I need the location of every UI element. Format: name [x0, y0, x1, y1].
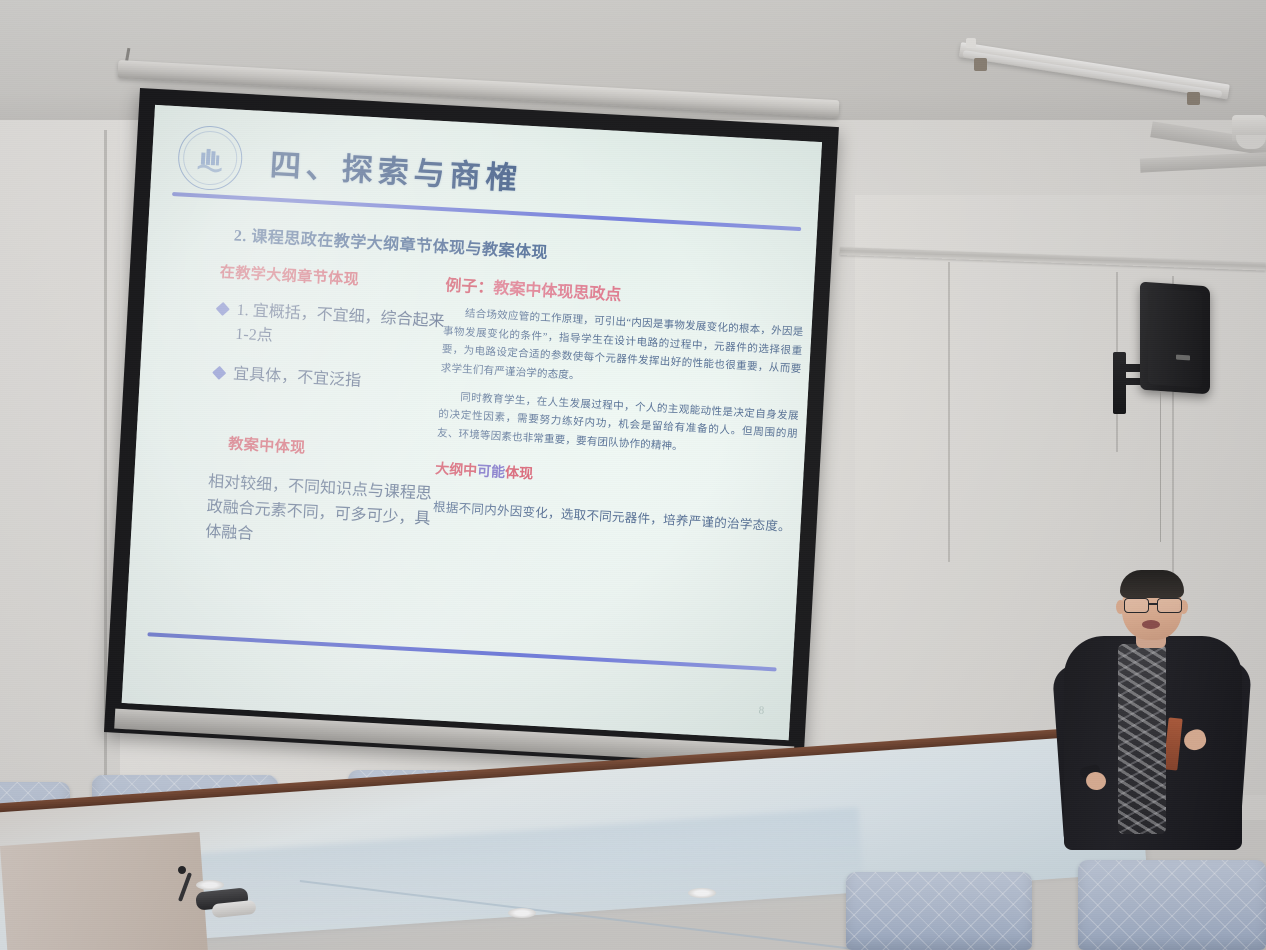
- bullet-item: 1. 宜概括，不宜细，综合起来1-2点: [216, 298, 446, 359]
- table-grommet: [508, 908, 536, 918]
- final-line: 根据不同内外因变化，选取不同元器件，培养严谨的治学态度。: [433, 496, 793, 535]
- light-end-cap: [974, 58, 987, 71]
- outline-heading-part-c: 体现: [505, 466, 534, 483]
- example-label-prefix: 例子：: [445, 277, 494, 297]
- light-bracket: [966, 38, 976, 48]
- bullet-text: 宜具体，不宜泛指: [232, 363, 361, 394]
- university-seal-logo: [176, 124, 243, 191]
- projection-screen: 四、探索与商榷 2. 课程思政在教学大纲章节体现与教案体现 在教学大纲章节体现 …: [104, 88, 839, 771]
- glasses-lens: [1157, 598, 1182, 613]
- right-paragraph-2: 同时教育学生，在人生发展过程中，个人的主观能动性是决定自身发展的决定性因素，需要…: [437, 388, 800, 464]
- table-grommet: [688, 888, 716, 898]
- example-label-main: 教案中体现思政点: [493, 280, 622, 304]
- presenter: [1056, 560, 1256, 860]
- microphone-head: [178, 866, 186, 874]
- presenter-mouth: [1142, 620, 1160, 629]
- slide-page-number: 8: [758, 705, 764, 717]
- chair: [1078, 860, 1266, 950]
- presentation-room-photo: 四、探索与商榷 2. 课程思政在教学大纲章节体现与教案体现 在教学大纲章节体现 …: [0, 0, 1266, 950]
- outline-heading-part-b: 可能: [477, 464, 506, 481]
- speaker-cable: [1160, 392, 1161, 542]
- glasses-bridge: [1148, 603, 1157, 605]
- slide-subtitle: 2. 课程思政在教学大纲章节体现与教案体现: [233, 221, 548, 263]
- wall-panel-seam: [948, 262, 950, 562]
- right-column: 例子：教案中体现思政点 结合场效应管的工作原理，可引出“内因是事物发展变化的根本…: [433, 271, 806, 535]
- chair: [846, 872, 1032, 950]
- projected-slide: 四、探索与商榷 2. 课程思政在教学大纲章节体现与教案体现 在教学大纲章节体现 …: [122, 105, 822, 740]
- left-heading: 在教学大纲章节体现: [219, 261, 448, 295]
- left-sub-body: 相对较细，不同知识点与课程思政融合元素不同，可多可少，具体融合: [205, 470, 437, 557]
- left-sub-heading: 教案中体现: [228, 433, 439, 466]
- speaker-wall-plate: [1113, 352, 1126, 414]
- glasses-icon: [1124, 598, 1182, 612]
- conference-table-front: [0, 832, 208, 950]
- left-wall-panel: [0, 120, 120, 800]
- speaker-grille: [1148, 288, 1202, 388]
- table-grommet: [196, 880, 224, 890]
- bottom-divider: [147, 632, 776, 671]
- outline-heading-part-a: 大纲中: [435, 462, 478, 479]
- presenter-scarf: [1118, 644, 1166, 834]
- glasses-lens: [1124, 598, 1149, 613]
- slide-surface: 四、探索与商榷 2. 课程思政在教学大纲章节体现与教案体现 在教学大纲章节体现 …: [122, 105, 822, 740]
- speaker-badge: [1176, 355, 1190, 361]
- left-column: 在教学大纲章节体现 1. 宜概括，不宜细，综合起来1-2点 宜具体，不宜泛指 教…: [205, 261, 449, 558]
- light-end-cap: [1187, 92, 1200, 105]
- bullet-text: 1. 宜概括，不宜细，综合起来1-2点: [235, 299, 446, 359]
- bullet-item: 宜具体，不宜泛指: [214, 362, 443, 399]
- diamond-bullet-icon: [216, 302, 230, 316]
- diamond-bullet-icon: [212, 366, 226, 380]
- right-paragraph-1: 结合场效应管的工作原理，可引出“内因是事物发展变化的根本，外因是事物发展变化的条…: [440, 304, 804, 399]
- outline-heading: 大纲中可能体现: [435, 458, 796, 498]
- presenter-hair: [1120, 570, 1184, 598]
- slide-title: 四、探索与商榷: [269, 139, 523, 198]
